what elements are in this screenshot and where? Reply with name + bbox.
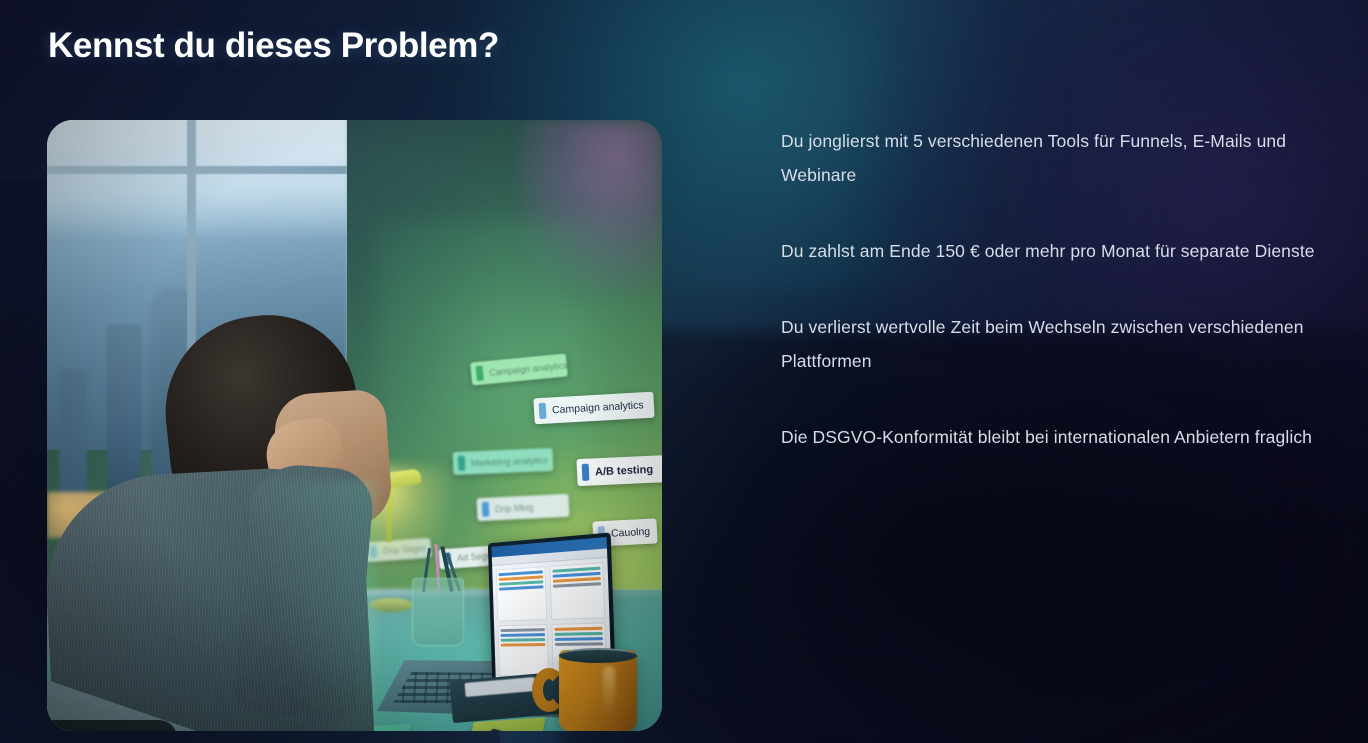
pain-point-list: Du jonglierst mit 5 verschiedenen Tools … xyxy=(781,124,1333,454)
photo-vignette xyxy=(47,120,662,731)
pain-point-item-3: Du verlierst wertvolle Zeit beim Wechsel… xyxy=(781,310,1333,378)
problem-illustration-image: Campaign analytics Campaign analytics Ma… xyxy=(47,120,662,731)
pain-point-item-1: Du jonglierst mit 5 verschiedenen Tools … xyxy=(781,124,1333,192)
problem-section: Kennst du dieses Problem? Campaign analy… xyxy=(0,0,1368,743)
pain-point-item-4: Die DSGVO-Konformität bleibt bei interna… xyxy=(781,420,1333,454)
page-title: Kennst du dieses Problem? xyxy=(48,26,499,66)
pain-point-item-2: Du zahlst am Ende 150 € oder mehr pro Mo… xyxy=(781,234,1333,268)
